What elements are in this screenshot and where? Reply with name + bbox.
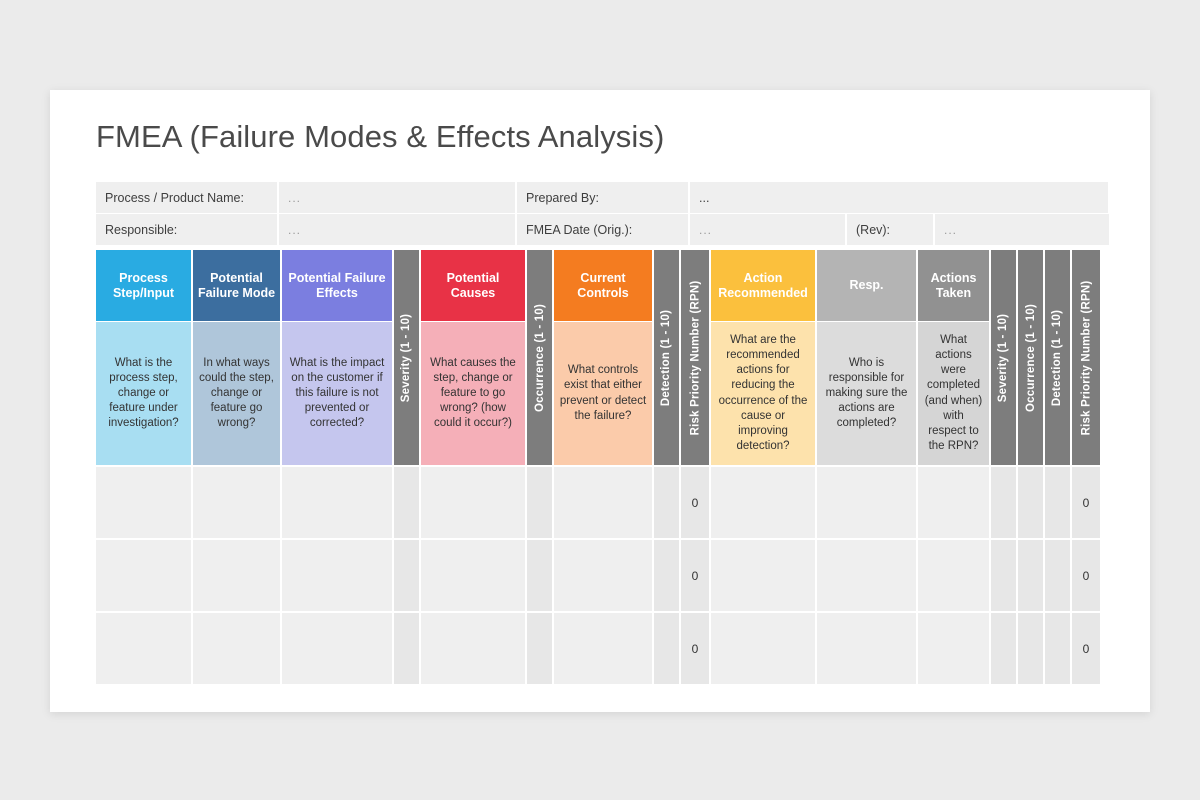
cell-responsible[interactable] xyxy=(817,613,916,684)
header-severity: Severity (1 - 10) xyxy=(394,250,419,465)
info-row-1: Process / Product Name: ... Prepared By:… xyxy=(96,182,1101,213)
cell-failure-mode[interactable] xyxy=(193,540,280,611)
fmea-date-orig-label: FMEA Date (Orig.): xyxy=(517,214,688,245)
desc-potential-causes: What causes the step, change or feature … xyxy=(421,322,525,465)
cell-occurrence-post[interactable] xyxy=(1018,467,1043,538)
cell-severity-post[interactable] xyxy=(991,613,1016,684)
cell-failure-effects[interactable] xyxy=(282,613,392,684)
cell-detection-post[interactable] xyxy=(1045,613,1070,684)
desc-process-step: What is the process step, change or feat… xyxy=(96,322,191,465)
cell-actions-taken[interactable] xyxy=(918,540,989,611)
header-rpn: Risk Priority Number (RPN) xyxy=(681,250,709,465)
column-occurrence-post: Occurrence (1 - 10) xyxy=(1018,250,1043,684)
header-severity-post-label: Severity (1 - 10) xyxy=(998,313,1010,401)
cell-failure-mode[interactable] xyxy=(193,613,280,684)
cell-occurrence[interactable] xyxy=(527,467,552,538)
column-severity-post: Severity (1 - 10) xyxy=(991,250,1016,684)
cell-detection[interactable] xyxy=(654,540,679,611)
cell-rpn-post[interactable]: 0 xyxy=(1072,540,1100,611)
cell-failure-effects[interactable] xyxy=(282,540,392,611)
cell-rpn[interactable]: 0 xyxy=(681,467,709,538)
responsible-label: Responsible: xyxy=(96,214,277,245)
cell-rpn-post[interactable]: 0 xyxy=(1072,613,1100,684)
cell-detection-post[interactable] xyxy=(1045,467,1070,538)
cell-current-controls[interactable] xyxy=(554,613,652,684)
column-detection: Detection (1 - 10) xyxy=(654,250,679,684)
cell-actions-taken[interactable] xyxy=(918,613,989,684)
header-failure-mode: Potential Failure Mode xyxy=(193,250,280,321)
cell-severity[interactable] xyxy=(394,540,419,611)
cell-detection[interactable] xyxy=(654,613,679,684)
column-occurrence: Occurrence (1 - 10) xyxy=(527,250,552,684)
prepared-by-label: Prepared By: xyxy=(517,182,688,213)
header-occurrence-label: Occurrence (1 - 10) xyxy=(534,304,546,412)
column-potential-causes: Potential Causes What causes the step, c… xyxy=(421,250,525,684)
desc-failure-mode: In what ways could the step, change or f… xyxy=(193,322,280,465)
cell-detection[interactable] xyxy=(654,467,679,538)
header-occurrence-post: Occurrence (1 - 10) xyxy=(1018,250,1043,465)
cell-occurrence[interactable] xyxy=(527,613,552,684)
header-rpn-post: Risk Priority Number (RPN) xyxy=(1072,250,1100,465)
desc-current-controls: What controls exist that either prevent … xyxy=(554,322,652,465)
cell-occurrence-post[interactable] xyxy=(1018,540,1043,611)
fmea-date-orig-field[interactable]: ... xyxy=(690,214,845,245)
header-detection: Detection (1 - 10) xyxy=(654,250,679,465)
cell-actions-taken[interactable] xyxy=(918,467,989,538)
cell-occurrence[interactable] xyxy=(527,540,552,611)
prepared-by-field[interactable]: ... xyxy=(690,182,1108,213)
column-severity: Severity (1 - 10) xyxy=(394,250,419,684)
process-product-name-label: Process / Product Name: xyxy=(96,182,277,213)
column-detection-post: Detection (1 - 10) xyxy=(1045,250,1070,684)
cell-current-controls[interactable] xyxy=(554,540,652,611)
header-responsible: Resp. xyxy=(817,250,916,321)
header-detection-post: Detection (1 - 10) xyxy=(1045,250,1070,465)
cell-rpn-post[interactable]: 0 xyxy=(1072,467,1100,538)
cell-severity[interactable] xyxy=(394,613,419,684)
responsible-field[interactable]: ... xyxy=(279,214,515,245)
column-responsible: Resp. Who is responsible for making sure… xyxy=(817,250,916,684)
cell-severity-post[interactable] xyxy=(991,467,1016,538)
cell-process-step[interactable] xyxy=(96,540,191,611)
column-action-recommended: Action Recommended What are the recommen… xyxy=(711,250,815,684)
cell-action-recommended[interactable] xyxy=(711,467,815,538)
cell-potential-causes[interactable] xyxy=(421,613,525,684)
cell-action-recommended[interactable] xyxy=(711,613,815,684)
cell-current-controls[interactable] xyxy=(554,467,652,538)
cell-occurrence-post[interactable] xyxy=(1018,613,1043,684)
header-occurrence-post-label: Occurrence (1 - 10) xyxy=(1025,304,1037,412)
cell-severity-post[interactable] xyxy=(991,540,1016,611)
header-detection-label: Detection (1 - 10) xyxy=(661,309,673,405)
column-failure-mode: Potential Failure Mode In what ways coul… xyxy=(193,250,280,684)
cell-process-step[interactable] xyxy=(96,467,191,538)
desc-failure-effects: What is the impact on the customer if th… xyxy=(282,322,392,465)
cell-action-recommended[interactable] xyxy=(711,540,815,611)
header-process-step: Process Step/Input xyxy=(96,250,191,321)
cell-responsible[interactable] xyxy=(817,540,916,611)
header-action-recommended: Action Recommended xyxy=(711,250,815,321)
column-current-controls: Current Controls What controls exist tha… xyxy=(554,250,652,684)
header-severity-label: Severity (1 - 10) xyxy=(401,313,413,401)
cell-failure-effects[interactable] xyxy=(282,467,392,538)
cell-responsible[interactable] xyxy=(817,467,916,538)
cell-potential-causes[interactable] xyxy=(421,467,525,538)
header-detection-post-label: Detection (1 - 10) xyxy=(1052,309,1064,405)
column-failure-effects: Potential Failure Effects What is the im… xyxy=(282,250,392,684)
fmea-grid: Process / Product Name: ... Prepared By:… xyxy=(96,182,1101,684)
process-product-name-field[interactable]: ... xyxy=(279,182,515,213)
cell-detection-post[interactable] xyxy=(1045,540,1070,611)
cell-potential-causes[interactable] xyxy=(421,540,525,611)
header-failure-effects: Potential Failure Effects xyxy=(282,250,392,321)
cell-rpn[interactable]: 0 xyxy=(681,613,709,684)
cell-severity[interactable] xyxy=(394,467,419,538)
column-actions-taken: Actions Taken What actions were complete… xyxy=(918,250,989,684)
info-row-2: Responsible: ... FMEA Date (Orig.): ... … xyxy=(96,214,1101,245)
column-rpn-post: Risk Priority Number (RPN) 0 0 0 xyxy=(1072,250,1100,684)
cell-process-step[interactable] xyxy=(96,613,191,684)
header-severity-post: Severity (1 - 10) xyxy=(991,250,1016,465)
header-rpn-post-label: Risk Priority Number (RPN) xyxy=(1080,280,1092,435)
desc-responsible: Who is responsible for making sure the a… xyxy=(817,322,916,465)
fmea-table: Process Step/Input What is the process s… xyxy=(96,250,1101,684)
fmea-date-rev-label: (Rev): xyxy=(847,214,933,245)
header-occurrence: Occurrence (1 - 10) xyxy=(527,250,552,465)
header-current-controls: Current Controls xyxy=(554,250,652,321)
header-actions-taken: Actions Taken xyxy=(918,250,989,321)
cell-failure-mode[interactable] xyxy=(193,467,280,538)
desc-actions-taken: What actions were completed (and when) w… xyxy=(918,322,989,465)
header-potential-causes: Potential Causes xyxy=(421,250,525,321)
column-process-step: Process Step/Input What is the process s… xyxy=(96,250,191,684)
column-rpn: Risk Priority Number (RPN) 0 0 0 xyxy=(681,250,709,684)
fmea-date-rev-field[interactable]: ... xyxy=(935,214,1109,245)
page-title: FMEA (Failure Modes & Effects Analysis) xyxy=(96,119,664,155)
cell-rpn[interactable]: 0 xyxy=(681,540,709,611)
fmea-card: FMEA (Failure Modes & Effects Analysis) … xyxy=(50,90,1150,712)
header-rpn-label: Risk Priority Number (RPN) xyxy=(689,280,701,435)
desc-action-recommended: What are the recommended actions for red… xyxy=(711,322,815,465)
